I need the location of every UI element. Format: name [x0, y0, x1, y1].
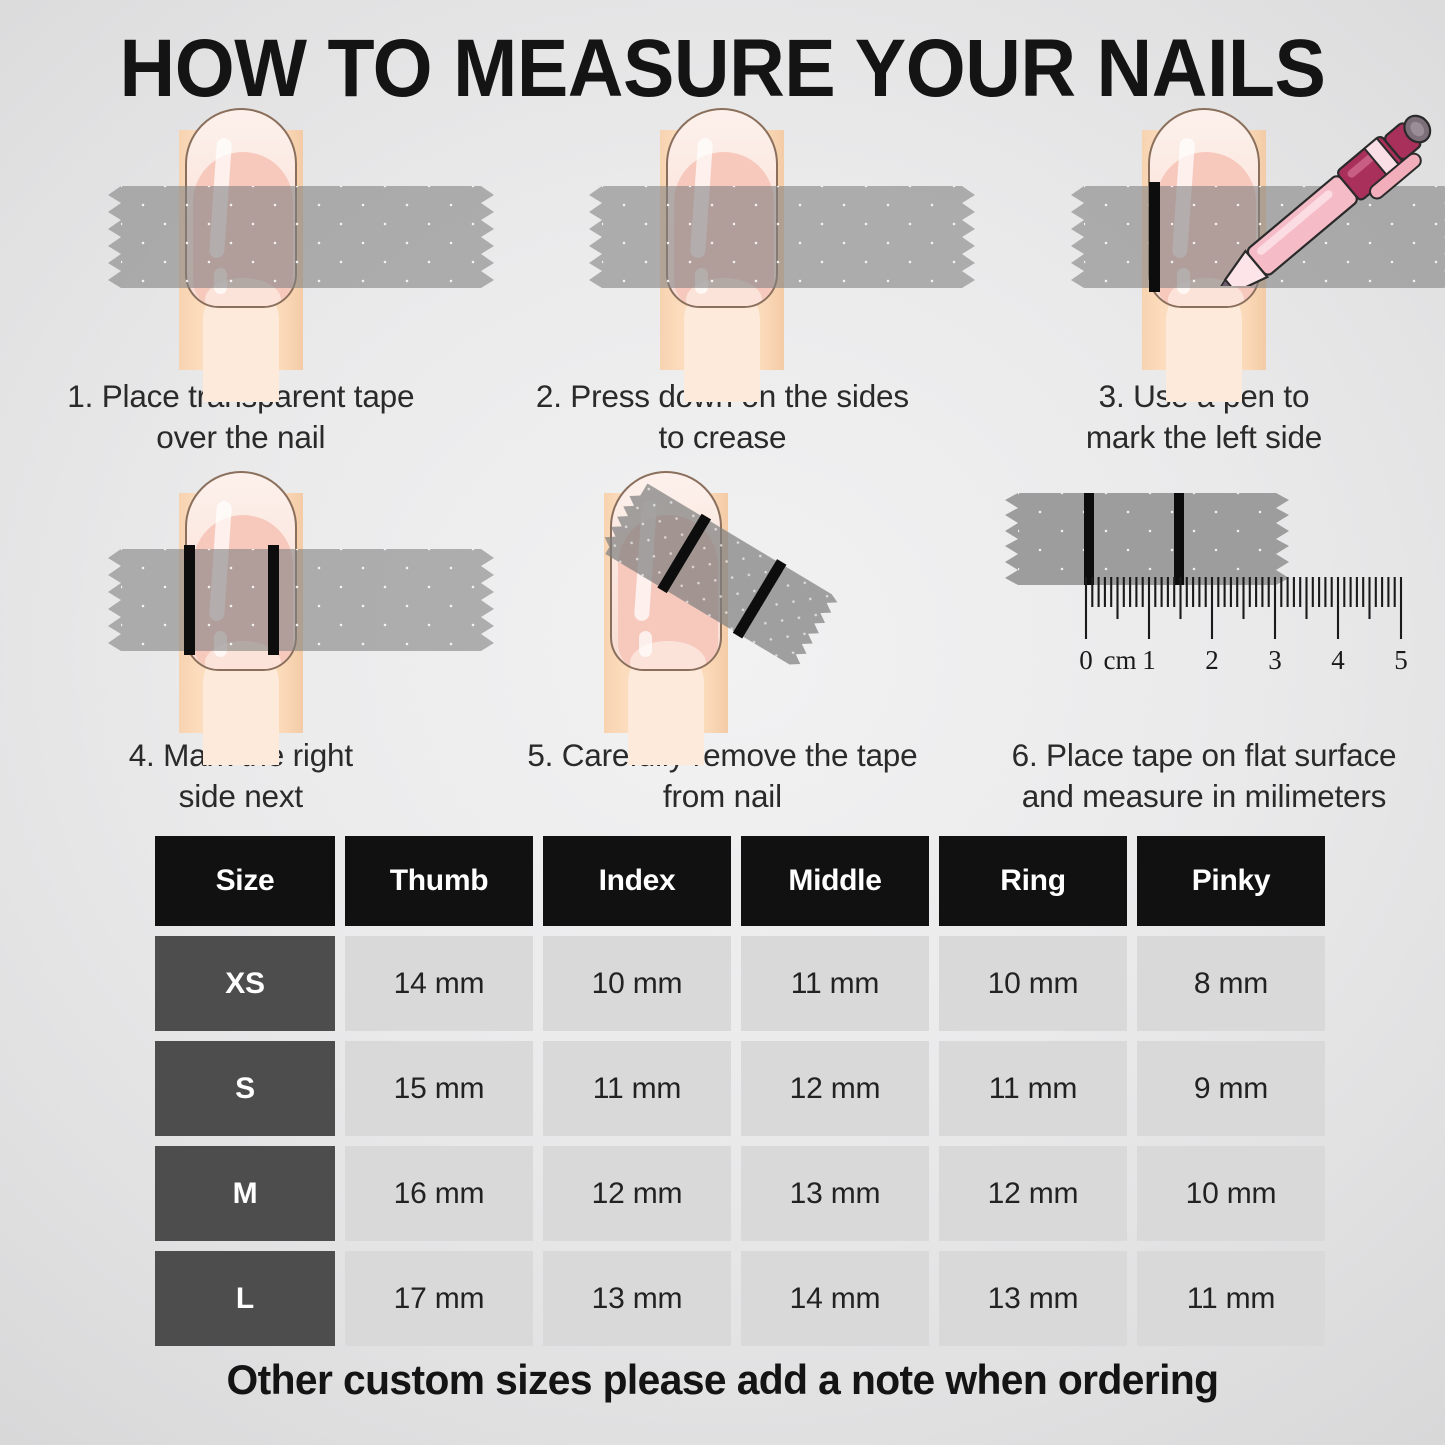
ruler-label-1: 1	[1142, 645, 1156, 675]
tape-mark-left	[1084, 493, 1094, 585]
cell-pinky: 8 mm	[1137, 936, 1325, 1031]
ruler-unit-label: cm	[1103, 645, 1136, 675]
step-5: 5. Carefully remove the tape from nail	[482, 471, 964, 816]
cell-middle: 14 mm	[741, 1251, 929, 1346]
table-header-size: Size	[155, 836, 335, 926]
table-header-ring: Ring	[939, 836, 1127, 926]
tape-texture	[1018, 493, 1276, 585]
tape-torn-edge-left	[108, 549, 121, 651]
page-title: HOW TO MEASURE YOUR NAILS	[43, 22, 1401, 116]
steps-row-bottom: 4. Mark the right side next	[0, 471, 1445, 816]
step-2: 2. Press down on the sides to crease	[482, 108, 964, 457]
tape-torn-edge-left	[589, 186, 602, 288]
tape-torn-edge-right	[1276, 493, 1289, 585]
cell-index: 12 mm	[543, 1146, 731, 1241]
tape-torn-edge-right	[962, 186, 975, 288]
cell-pinky: 10 mm	[1137, 1146, 1325, 1241]
table-header-middle: Middle	[741, 836, 929, 926]
transparent-tape	[602, 186, 962, 288]
size-label: M	[155, 1146, 335, 1241]
cell-thumb: 15 mm	[345, 1041, 533, 1136]
table-header-thumb: Thumb	[345, 836, 533, 926]
cell-ring: 10 mm	[939, 936, 1127, 1031]
table-header-row: Size Thumb Index Middle Ring Pinky	[155, 836, 1323, 926]
custom-size-note: Other custom sizes please add a note whe…	[22, 1356, 1424, 1404]
cell-index: 13 mm	[543, 1251, 731, 1346]
step-4-illustration	[21, 471, 461, 729]
tape-torn-edge-left	[1005, 493, 1018, 585]
cell-thumb: 14 mm	[345, 936, 533, 1031]
cell-middle: 13 mm	[741, 1146, 929, 1241]
tape-torn-edge-left	[108, 186, 121, 288]
table-row: L 17 mm 13 mm 14 mm 13 mm 11 mm	[155, 1251, 1323, 1346]
cell-ring: 12 mm	[939, 1146, 1127, 1241]
step-5-caption: 5. Carefully remove the tape from nail	[492, 735, 952, 816]
steps-row-top: 1. Place transparent tape over the nail	[0, 108, 1445, 457]
tape-texture	[121, 186, 481, 288]
table-row: S 15 mm 11 mm 12 mm 11 mm 9 mm	[155, 1041, 1323, 1136]
pen-mark-right	[268, 545, 279, 655]
tape-texture	[121, 549, 481, 651]
ruler-label-2: 2	[1205, 645, 1219, 675]
tape-torn-edge-right	[481, 549, 494, 651]
size-label: S	[155, 1041, 335, 1136]
finger-illustration	[1064, 108, 1344, 370]
cell-pinky: 9 mm	[1137, 1041, 1325, 1136]
step-6: 0 cm 1 2 3 4 5 6. Place tape on flat sur…	[963, 471, 1445, 816]
step-2-illustration	[502, 108, 942, 370]
finger-illustration	[546, 471, 846, 729]
ruler-label-5: 5	[1394, 645, 1408, 675]
transparent-tape	[121, 549, 481, 651]
size-label: L	[155, 1251, 335, 1346]
cell-index: 11 mm	[543, 1041, 731, 1136]
ruler-icon: 0 cm 1 2 3 4 5	[994, 577, 1424, 707]
pen-icon	[1214, 106, 1445, 286]
table-row: XS 14 mm 10 mm 11 mm 10 mm 8 mm	[155, 936, 1323, 1031]
cell-thumb: 17 mm	[345, 1251, 533, 1346]
measured-tape	[1018, 493, 1276, 585]
cell-pinky: 11 mm	[1137, 1251, 1325, 1346]
step-4: 4. Mark the right side next	[0, 471, 482, 816]
cell-middle: 12 mm	[741, 1041, 929, 1136]
cell-ring: 13 mm	[939, 1251, 1127, 1346]
finger-illustration	[101, 471, 381, 729]
steps-grid: 1. Place transparent tape over the nail	[0, 108, 1445, 817]
table-row: M 16 mm 12 mm 13 mm 12 mm 10 mm	[155, 1146, 1323, 1241]
step-1-illustration	[21, 108, 461, 370]
cell-thumb: 16 mm	[345, 1146, 533, 1241]
tape-torn-edge-right	[481, 186, 494, 288]
size-chart-table: Size Thumb Index Middle Ring Pinky XS 14…	[155, 836, 1323, 1356]
table-header-pinky: Pinky	[1137, 836, 1325, 926]
finger-illustration	[582, 108, 862, 370]
finger-illustration	[101, 108, 381, 370]
tape-torn-edge-left	[1071, 186, 1084, 288]
ruler-label-3: 3	[1268, 645, 1282, 675]
cell-ring: 11 mm	[939, 1041, 1127, 1136]
step-6-illustration: 0 cm 1 2 3 4 5	[984, 471, 1424, 729]
step-5-illustration	[502, 471, 942, 729]
step-6-caption: 6. Place tape on flat surface and measur…	[974, 735, 1434, 816]
peeled-tape	[616, 497, 906, 717]
cell-middle: 11 mm	[741, 936, 929, 1031]
tape-mark-right	[1174, 493, 1184, 585]
size-label: XS	[155, 936, 335, 1031]
ruler-label-4: 4	[1331, 645, 1345, 675]
table-header-index: Index	[543, 836, 731, 926]
pen-mark-left	[1149, 182, 1160, 292]
step-3: 3. Use a pen to mark the left side	[963, 108, 1445, 457]
step-3-illustration	[984, 108, 1424, 370]
pen-mark-left	[184, 545, 195, 655]
cell-index: 10 mm	[543, 936, 731, 1031]
ruler-label-0: 0	[1079, 645, 1093, 675]
tape-texture	[602, 186, 962, 288]
step-1: 1. Place transparent tape over the nail	[0, 108, 482, 457]
tape-on-ruler: 0 cm 1 2 3 4 5	[994, 481, 1424, 731]
transparent-tape	[121, 186, 481, 288]
